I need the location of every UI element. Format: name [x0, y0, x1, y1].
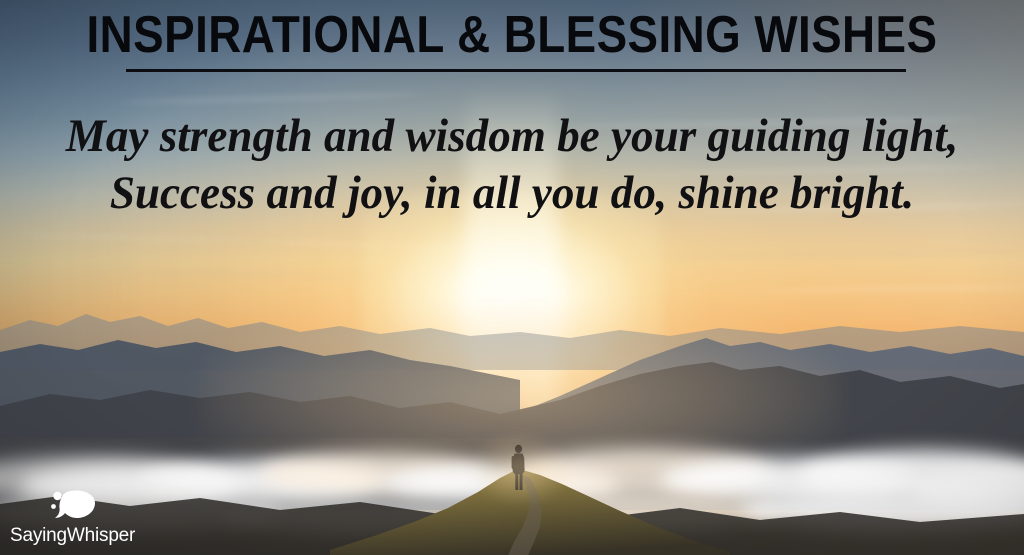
watermark-label: SayingWhisper [10, 525, 135, 547]
hiker-silhouette [505, 444, 533, 494]
whisper-bubble-icon [50, 489, 98, 523]
watermark[interactable]: SayingWhisper [10, 487, 160, 549]
quote-block: May strength and wisdom be your guiding … [20, 108, 1003, 222]
inspirational-quote-poster: INSPIRATIONAL & BLESSING WISHES May stre… [0, 0, 1024, 555]
title-underline-rule [126, 69, 906, 72]
page-title: INSPIRATIONAL & BLESSING WISHES [61, 6, 962, 64]
quote-line-1: May strength and wisdom be your guiding … [20, 108, 1003, 165]
quote-line-2: Success and joy, in all you do, shine br… [20, 165, 1003, 222]
